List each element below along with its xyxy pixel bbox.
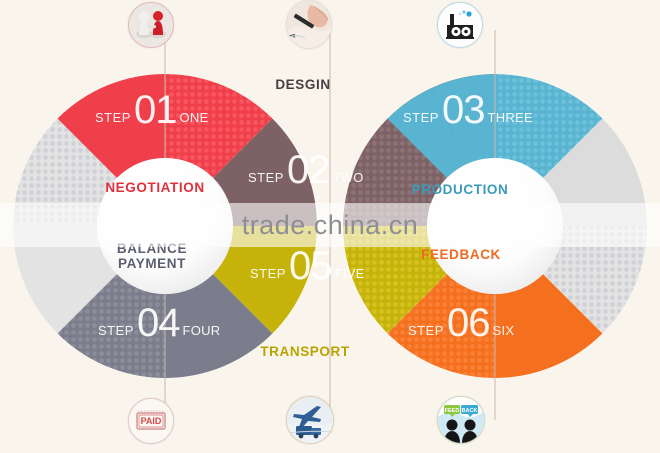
feedback-bubble-right-text: BACK xyxy=(462,408,478,414)
pen-drawing-icon[interactable] xyxy=(286,0,332,49)
paid-stamp-text: PAID xyxy=(141,416,162,426)
infographic-canvas: STEP 01 ONE STEP 02 TWO STEP 03 THREE ST… xyxy=(0,0,660,453)
watermark: trade.china.cn xyxy=(0,203,660,247)
feedback-bubble-left-text: FEED xyxy=(445,408,460,414)
feedback-people-icon[interactable]: FEED BACK xyxy=(437,396,485,444)
factory-icon[interactable] xyxy=(437,2,483,48)
paid-stamp-icon[interactable]: PAID xyxy=(128,398,174,444)
handshake-icon[interactable] xyxy=(128,2,174,48)
airplane-freight-icon[interactable] xyxy=(286,396,334,444)
